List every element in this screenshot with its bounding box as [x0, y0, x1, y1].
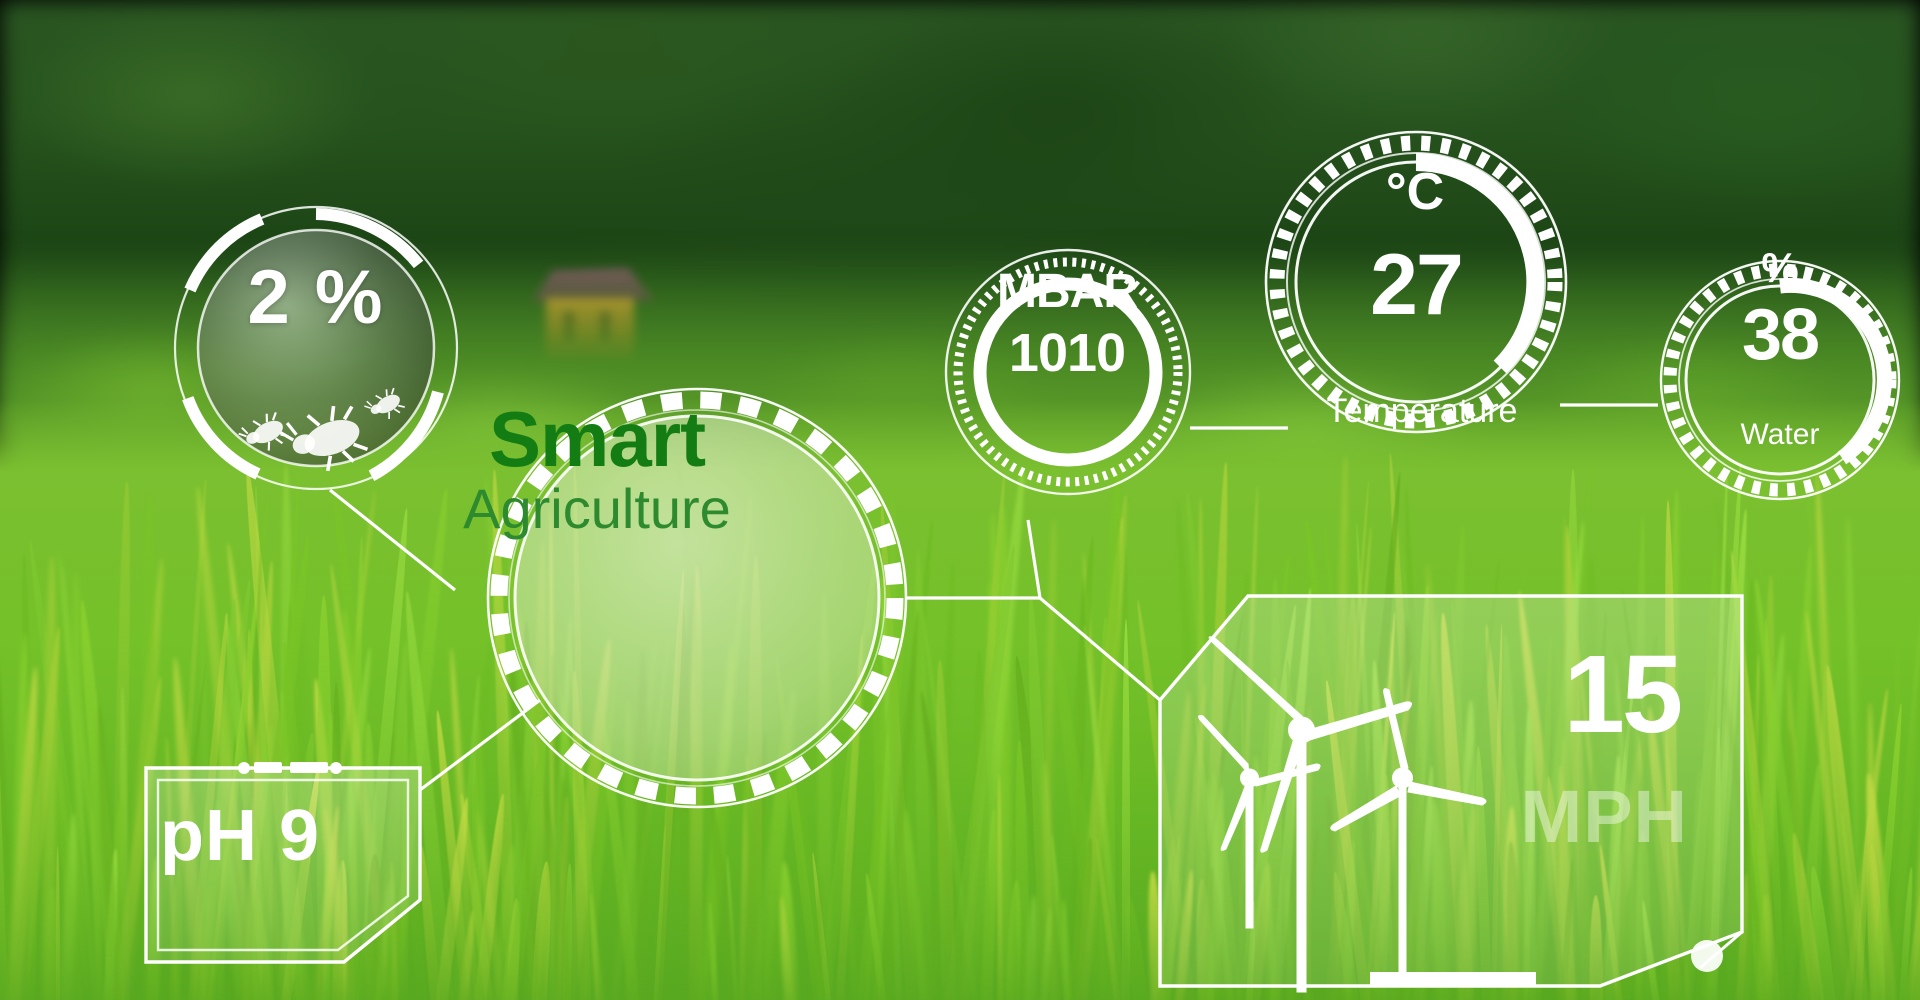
wind-panel-corner-dot — [1691, 940, 1723, 972]
water-unit: % — [1740, 244, 1820, 292]
wind-speed-unit: MPH — [1448, 780, 1688, 854]
connector-junction-mbar — [1028, 520, 1040, 598]
smart-agriculture-infographic: 2 % MBAR 1010 °C 27 Temperature % 38 Wat… — [0, 0, 1920, 1000]
wind-panel-bottom-bar — [1370, 972, 1536, 987]
brand-title: Smart Agriculture — [432, 400, 762, 538]
temperature-label: Temperature — [1282, 392, 1562, 431]
wind-speed-value: 15 — [1510, 640, 1680, 750]
gauge-pest[interactable] — [175, 207, 457, 489]
temperature-unit: °C — [1360, 162, 1470, 222]
pressure-value: 1010 — [972, 322, 1162, 384]
water-label: Water — [1660, 418, 1900, 452]
water-value: 38 — [1690, 294, 1870, 376]
brand-title-primary: Smart — [432, 400, 762, 480]
brand-title-secondary: Agriculture — [432, 480, 762, 539]
pest-value: 2 % — [226, 254, 406, 341]
pressure-unit: MBAR — [972, 264, 1162, 319]
temperature-value: 27 — [1326, 236, 1506, 335]
connector-junction-wind — [1040, 598, 1160, 700]
ph-value: pH 9 — [160, 795, 420, 877]
